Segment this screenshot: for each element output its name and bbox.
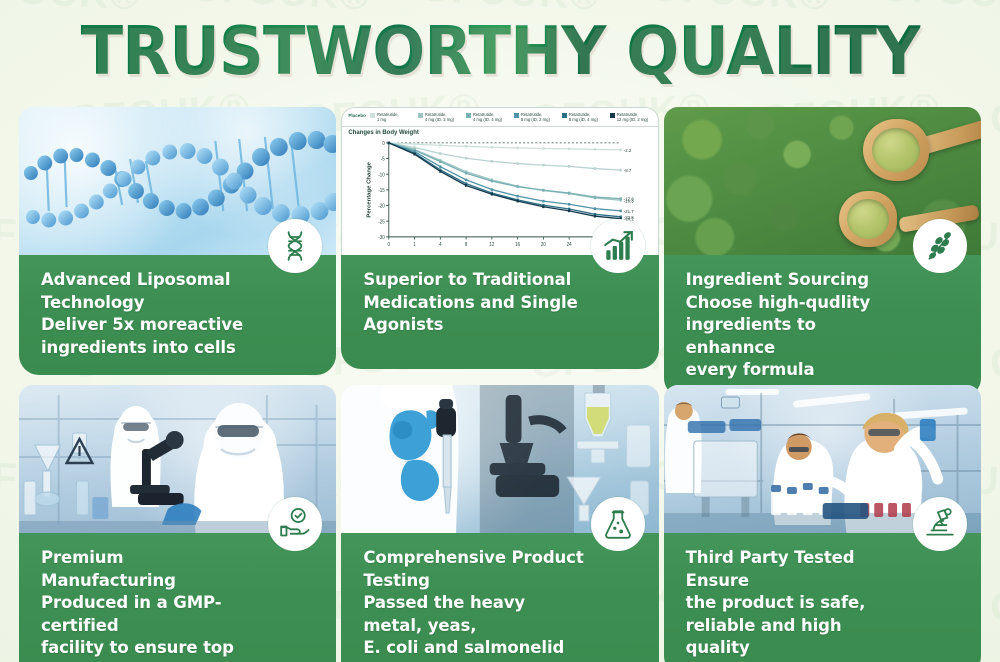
svg-text:0: 0 — [383, 141, 386, 147]
card-superior-to-traditional-medications[interactable]: Placebo Retatrutide, 1 mg Retatrutide, 4… — [341, 107, 658, 369]
legend-label: Retatrutide, 4 mg (ID. 2 mg) — [425, 112, 454, 123]
card-caption-panel: Third Party Tested Ensure the product is… — [664, 533, 981, 662]
legend-item: Retatrutide, 12 mg (ID. 2 mg) — [610, 112, 654, 123]
card-caption-text: Superior to Traditional Medications and … — [363, 269, 584, 337]
legend-label: Retatrutide, 8 mg (ID. 4 mg) — [569, 112, 598, 123]
svg-text:-17.8: -17.8 — [624, 196, 634, 201]
legend-prefix: Placebo — [348, 112, 366, 118]
dna-icon-glyph — [278, 229, 312, 263]
legend-label: Retatrutide, 4 mg (ID. 4 mg) — [473, 112, 502, 123]
page-title-wrap: TRUSTWORTHY QUALITY — [0, 14, 1000, 88]
legend-item: Retatrutide, 1 mg — [370, 112, 414, 123]
svg-text:Percentage Change: Percentage Change — [367, 162, 373, 218]
growth-chart-icon — [591, 219, 645, 273]
legend-swatch — [514, 113, 519, 118]
svg-text:1: 1 — [414, 242, 417, 248]
feature-card-grid: Advanced Liposomal Technology Deliver 5x… — [19, 107, 981, 647]
watermark-text: GFOUK® — [989, 86, 1000, 143]
svg-text:-8.7: -8.7 — [624, 168, 632, 173]
card-comprehensive-product-testing[interactable]: Comprehensive Product Testing Passed the… — [341, 385, 658, 647]
legend-label: Retatrutide, 8 mg (ID. 2 mg) — [521, 112, 550, 123]
watermark-text: GFOUK® — [989, 574, 1000, 631]
card-caption-panel: Premium Manufacturing Produced in a GMP-… — [19, 533, 336, 662]
dna-icon — [268, 219, 322, 273]
page-title: TRUSTWORTHY QUALITY — [80, 14, 920, 88]
svg-text:16: 16 — [515, 242, 520, 248]
infographic-page: GFOUK®GFOUK®GFOUK®GFOUK®GFOUK®GFOUK®GFOU… — [0, 0, 1000, 662]
svg-text:-30: -30 — [379, 235, 386, 241]
card-caption-text: Third Party Tested Ensure the product is… — [686, 547, 907, 660]
card-advanced-liposomal-technology[interactable]: Advanced Liposomal Technology Deliver 5x… — [19, 107, 336, 369]
svg-text:-5: -5 — [381, 156, 385, 162]
legend-item: Retatrutide, 4 mg (ID. 4 mg) — [466, 112, 510, 123]
watermark-text: GFOUK® — [989, 330, 1000, 387]
card-ingredient-sourcing[interactable]: Ingredient Sourcing Choose high-qudlity … — [664, 107, 981, 369]
powder-spoon — [839, 191, 897, 247]
svg-text:4: 4 — [439, 242, 442, 248]
svg-text:-20: -20 — [379, 203, 386, 209]
card-caption-text: Premium Manufacturing Produced in a GMP-… — [41, 547, 262, 662]
legend-swatch — [370, 113, 375, 118]
legend-swatch — [466, 113, 471, 118]
chart-legend: Placebo Retatrutide, 1 mg Retatrutide, 4… — [342, 108, 657, 127]
svg-text:12: 12 — [490, 242, 495, 248]
card-caption-panel: Ingredient Sourcing Choose high-qudlity … — [664, 255, 981, 398]
flask-icon — [591, 497, 645, 551]
card-third-party-tested[interactable]: Third Party Tested Ensure the product is… — [664, 385, 981, 647]
leaf-branch-icon — [913, 219, 967, 273]
hand-check-icon — [268, 497, 322, 551]
growth-chart-icon-glyph — [601, 229, 635, 263]
chart-title: Changes in Body Weight — [342, 127, 657, 136]
card-caption-panel: Advanced Liposomal Technology Deliver 5x… — [19, 255, 336, 375]
svg-text:0: 0 — [388, 242, 391, 248]
svg-text:-25: -25 — [379, 219, 386, 225]
legend-swatch — [610, 113, 615, 118]
legend-swatch — [418, 113, 423, 118]
microscope-icon-glyph — [923, 507, 957, 541]
hand-check-icon-glyph — [278, 507, 312, 541]
svg-text:-15: -15 — [379, 188, 386, 194]
powder-spoon — [863, 119, 929, 181]
flask-icon-glyph — [601, 507, 635, 541]
card-caption-text: Ingredient Sourcing Choose high-qudlity … — [686, 269, 907, 382]
microscope-icon — [913, 497, 967, 551]
svg-text:-10: -10 — [379, 172, 386, 178]
legend-item: Retatrutide, 4 mg (ID. 2 mg) — [418, 112, 462, 123]
svg-text:-2.2: -2.2 — [624, 147, 632, 152]
legend-label: Retatrutide, 12 mg (ID. 2 mg) — [617, 112, 648, 123]
card-caption-text: Advanced Liposomal Technology Deliver 5x… — [41, 269, 262, 359]
leaf-branch-icon-glyph — [923, 229, 957, 263]
svg-text:24: 24 — [567, 242, 572, 248]
card-caption-panel: Comprehensive Product Testing Passed the… — [341, 533, 658, 662]
legend-item: Retatrutide, 8 mg (ID. 4 mg) — [562, 112, 606, 123]
card-premium-manufacturing[interactable]: Premium Manufacturing Produced in a GMP-… — [19, 385, 336, 647]
svg-text:-21.7: -21.7 — [624, 208, 634, 213]
card-caption-text: Comprehensive Product Testing Passed the… — [363, 547, 584, 662]
legend-swatch — [562, 113, 567, 118]
svg-text:8: 8 — [465, 242, 468, 248]
svg-text:20: 20 — [541, 242, 546, 248]
legend-item: Retatrutide, 8 mg (ID. 2 mg) — [514, 112, 558, 123]
legend-label: Retatrutide, 1 mg — [377, 112, 399, 123]
